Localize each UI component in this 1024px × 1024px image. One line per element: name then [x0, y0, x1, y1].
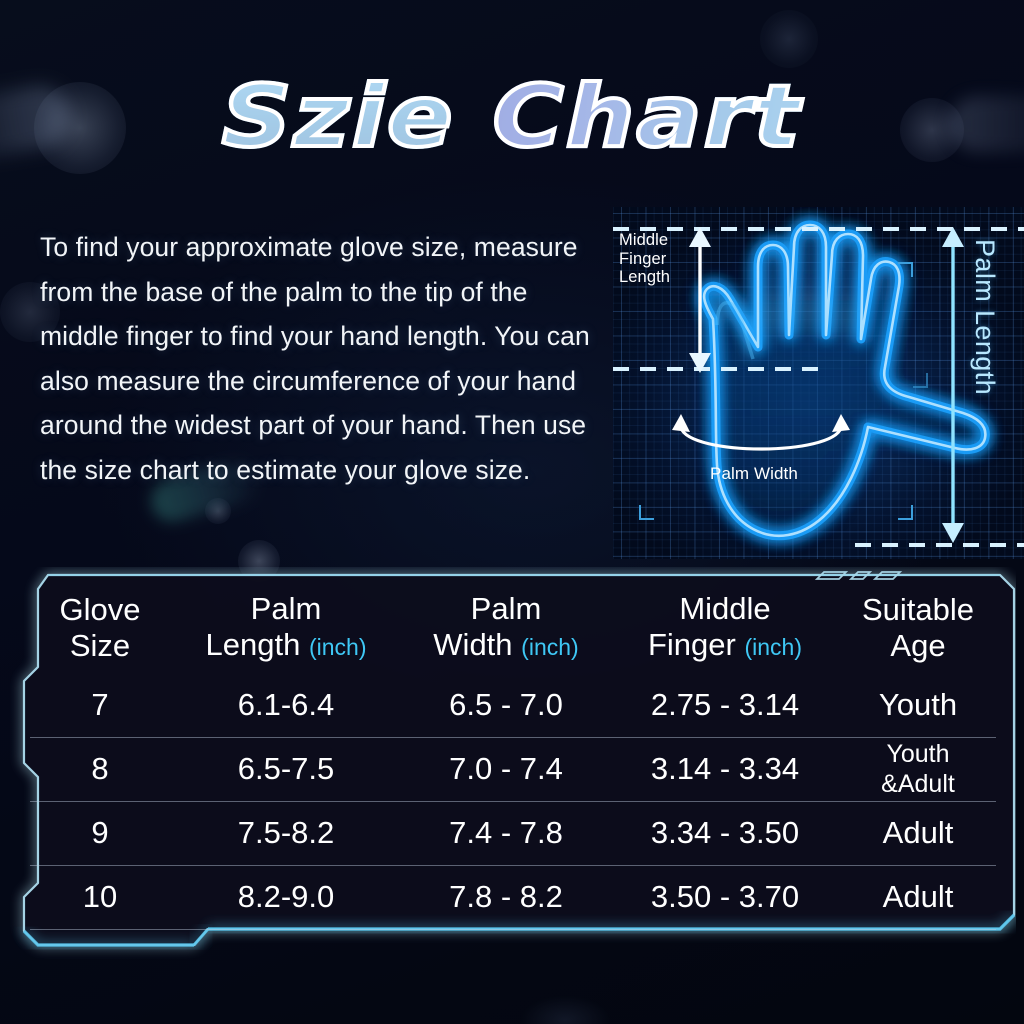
bottom-reference-line: [855, 543, 1024, 547]
cell-age-line1: Youth: [886, 740, 949, 768]
cell-palm-length: 8.2-9.0: [170, 865, 402, 929]
mfl-line3: Length: [619, 268, 670, 286]
header-palm-length-line1: Palm: [170, 591, 402, 627]
cell-palm-width: 7.4 - 7.8: [402, 801, 610, 865]
glove-size-table: GloveSize PalmLength (inch) PalmWidth (i…: [30, 581, 996, 930]
header-palm-width-unit: (inch): [521, 634, 579, 660]
header-suitable-age-line2: Age: [890, 628, 945, 663]
cell-middle-finger: 3.34 - 3.50: [610, 801, 840, 865]
header-glove-size-line1: Glove: [30, 592, 170, 628]
mfl-line1: Middle: [619, 231, 668, 249]
header-palm-width-line1: Palm: [402, 591, 610, 627]
corner-bracket-icon: [898, 262, 913, 277]
cell-middle-finger: 3.14 - 3.34: [610, 737, 840, 801]
cell-palm-width: 6.5 - 7.0: [402, 673, 610, 737]
cell-palm-length: 6.5-7.5: [170, 737, 402, 801]
knuckle-reference-line: [613, 367, 825, 371]
middle-finger-length-label: Middle Finger Length: [619, 231, 670, 287]
table-row: 10 8.2-9.0 7.8 - 8.2 3.50 - 3.70 Adult: [30, 865, 996, 929]
table-header: GloveSize PalmLength (inch) PalmWidth (i…: [30, 581, 996, 673]
table-row: 8 6.5-7.5 7.0 - 7.4 3.14 - 3.34 Youth&Ad…: [30, 737, 996, 801]
bokeh-blob: [760, 10, 818, 68]
middle-finger-measure-arrow-icon: [687, 227, 713, 373]
cell-middle-finger: 2.75 - 3.14: [610, 673, 840, 737]
cell-age: Adult: [840, 801, 996, 865]
header-palm-length-line2: Length: [206, 627, 301, 662]
mfl-line2: Finger: [619, 250, 666, 268]
page-title: SzieChart: [222, 74, 802, 160]
header-middle-finger: MiddleFinger (inch): [610, 581, 840, 673]
cell-size: 8: [30, 737, 170, 801]
size-table-panel: GloveSize PalmLength (inch) PalmWidth (i…: [8, 567, 1016, 967]
header-middle-finger-unit: (inch): [744, 634, 802, 660]
header-middle-finger-line1: Middle: [610, 591, 840, 627]
header-glove-size-line2: Size: [70, 628, 130, 663]
header-middle-finger-line2: Finger: [648, 627, 736, 662]
cell-age: Youth: [840, 673, 996, 737]
bokeh-blob: [205, 498, 231, 524]
title-container: SzieChart: [0, 74, 1024, 160]
hand-measurement-diagram: Middle Finger Length Palm Width Palm Len…: [613, 207, 1024, 559]
corner-bracket-icon: [913, 373, 928, 388]
cell-age-line2: &Adult: [881, 770, 955, 798]
table-row: 9 7.5-8.2 7.4 - 7.8 3.34 - 3.50 Adult: [30, 801, 996, 865]
palm-width-label: Palm Width: [710, 464, 798, 484]
header-palm-length: PalmLength (inch): [170, 581, 402, 673]
title-word-chart: Chart: [493, 67, 802, 167]
size-chart-poster: SzieChart To find your approximate glove…: [0, 0, 1024, 1024]
palm-length-measure-arrow-icon: [940, 227, 966, 543]
table-row: 7 6.1-6.4 6.5 - 7.0 2.75 - 3.14 Youth: [30, 673, 996, 737]
cell-palm-length: 7.5-8.2: [170, 801, 402, 865]
corner-bracket-icon: [639, 505, 654, 520]
cell-size: 9: [30, 801, 170, 865]
cell-age: Youth&Adult: [840, 737, 996, 801]
cell-size: 10: [30, 865, 170, 929]
header-glove-size: GloveSize: [30, 581, 170, 673]
header-suitable-age: SuitableAge: [840, 581, 996, 673]
bokeh-blob: [520, 995, 610, 1024]
corner-bracket-icon: [898, 505, 913, 520]
cell-palm-length: 6.1-6.4: [170, 673, 402, 737]
header-palm-width-line2: Width: [433, 627, 512, 662]
table-body: 7 6.1-6.4 6.5 - 7.0 2.75 - 3.14 Youth 8 …: [30, 673, 996, 929]
cell-age: Adult: [840, 865, 996, 929]
title-word-size: Szie: [222, 67, 455, 167]
cell-size: 7: [30, 673, 170, 737]
header-suitable-age-line1: Suitable: [840, 592, 996, 628]
palm-width-measure-arrow-icon: [671, 414, 851, 456]
cell-middle-finger: 3.50 - 3.70: [610, 865, 840, 929]
table-header-row: GloveSize PalmLength (inch) PalmWidth (i…: [30, 581, 996, 673]
palm-length-label: Palm Length: [969, 239, 1000, 395]
intro-paragraph: To find your approximate glove size, mea…: [40, 225, 600, 493]
header-palm-length-unit: (inch): [309, 634, 367, 660]
cell-palm-width: 7.8 - 8.2: [402, 865, 610, 929]
header-palm-width: PalmWidth (inch): [402, 581, 610, 673]
cell-palm-width: 7.0 - 7.4: [402, 737, 610, 801]
